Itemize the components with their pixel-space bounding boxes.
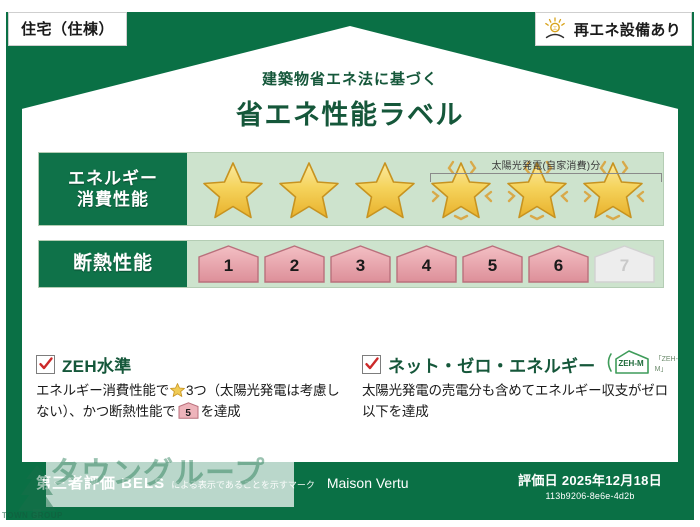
energy-row-body: 太陽光発電(自家消費)分 [187,153,663,225]
zeh-m-logo-icon: ZEH-M [603,349,651,380]
zeh-criteria-body: エネルギー消費性能で3つ（太陽光発電は考慮しない）、かつ断熱性能で5を達成 [36,381,342,423]
zeh-criteria-header: ZEH水準 [36,352,342,376]
insulation-chip-value: 3 [329,256,392,276]
zeh-m-logo-text: ZEH-M [618,359,644,368]
title-block: 建築物省エネ法に基づく 省エネ性能ラベル [0,68,700,132]
zeh-criteria-block: ZEH水準 エネルギー消費性能で3つ（太陽光発電は考慮しない）、かつ断熱性能で5… [36,352,342,423]
evaluation-uid: 113b9206-8e6e-4d2b [518,491,662,501]
title-subtitle: 建築物省エネ法に基づく [0,68,700,89]
star-rating [197,156,651,222]
bels-label: 第三者評価 BELS [36,472,165,493]
zeh-chip-value: 5 [178,406,199,422]
insulation-chip: 4 [395,245,458,283]
page-title: 省エネ性能ラベル [0,93,700,132]
evaluation-date: 評価日 2025年12月18日 [518,470,662,489]
insulation-row-body: 1 2 3 4 [187,241,663,287]
criteria-section: ZEH水準 エネルギー消費性能で3つ（太陽光発電は考慮しない）、かつ断熱性能で5… [36,352,668,423]
insulation-chip-value: 6 [527,256,590,276]
insulation-chip: 5 [461,245,524,283]
star-solar [501,156,575,222]
insulation-chip: 2 [263,245,326,283]
insulation-row-label: 断熱性能 [39,241,187,287]
zeh-body-part1: エネルギー消費性能で [36,383,169,398]
insulation-chip: 1 [197,245,260,283]
insulation-chip-inactive: 7 [593,245,656,283]
footer-left-group: 第三者評価 BELS による表示であることを示すマーク Maison Vertu [36,472,409,493]
star-filled [349,156,423,222]
zeh-star-count: 3つ [186,383,207,398]
insulation-chip-value: 1 [197,256,260,276]
net-zero-criteria-body: 太陽光発電の売電分も含めてエネルギー収支がゼロ以下を達成 [362,381,668,423]
dwelling-type-tag: 住宅（住棟） [8,12,127,46]
zeh-criteria-title: ZEH水準 [62,352,132,377]
net-zero-criteria-header: ネット・ゼロ・エネルギー ZEH-M 「ZEH-M」 [362,352,668,376]
insulation-label-text: 断熱性能 [73,252,153,276]
net-zero-criteria-block: ネット・ゼロ・エネルギー ZEH-M 「ZEH-M」 太陽光発電の売電分も含めて… [362,352,668,423]
zeh-checkbox[interactable] [36,355,55,374]
star-filled [197,156,271,222]
insulation-chip: 3 [329,245,392,283]
energy-label-line2: 消費性能 [77,189,149,210]
bels-note: による表示であることを示すマーク [171,478,315,491]
zeh-body-part3: を達成 [201,404,241,419]
performance-rows: エネルギー 消費性能 [38,152,664,288]
net-zero-checkbox[interactable] [362,355,381,374]
renewable-badge-label: 再エネ設備あり [574,19,681,40]
zeh-m-logo-caption: 「ZEH-M」 [655,354,678,376]
label-footer: 第三者評価 BELS による表示であることを示すマーク Maison Vertu… [22,462,678,514]
energy-row-label: エネルギー 消費性能 [39,153,187,225]
insulation-chip: 6 [527,245,590,283]
energy-label-line1: エネルギー [68,168,158,189]
insulation-chip-value: 5 [461,256,524,276]
star-solar [577,156,651,222]
insulation-chip-icon: 5 [178,402,199,419]
renewable-equipment-badge: エ 再エネ設備あり [535,12,692,46]
sun-icon: エ [542,16,568,42]
insulation-grade-scale: 1 2 3 4 [197,245,656,283]
energy-performance-label: 住宅（住棟） エ 再エネ設備あり 建築物省エネ法に基づく 省エネ性能ラベル [0,0,700,527]
star-icon [170,383,185,397]
energy-performance-row: エネルギー 消費性能 [38,152,664,226]
star-filled [273,156,347,222]
insulation-performance-row: 断熱性能 1 2 3 [38,240,664,288]
building-name: Maison Vertu [327,475,409,491]
insulation-chip-value: 2 [263,256,326,276]
net-zero-criteria-title: ネット・ゼロ・エネルギー [388,352,596,377]
insulation-chip-value: 4 [395,256,458,276]
star-solar [425,156,499,222]
footer-right-group: 評価日 2025年12月18日 113b9206-8e6e-4d2b [518,470,662,501]
insulation-chip-value: 7 [593,256,656,276]
svg-text:エ: エ [552,26,557,32]
